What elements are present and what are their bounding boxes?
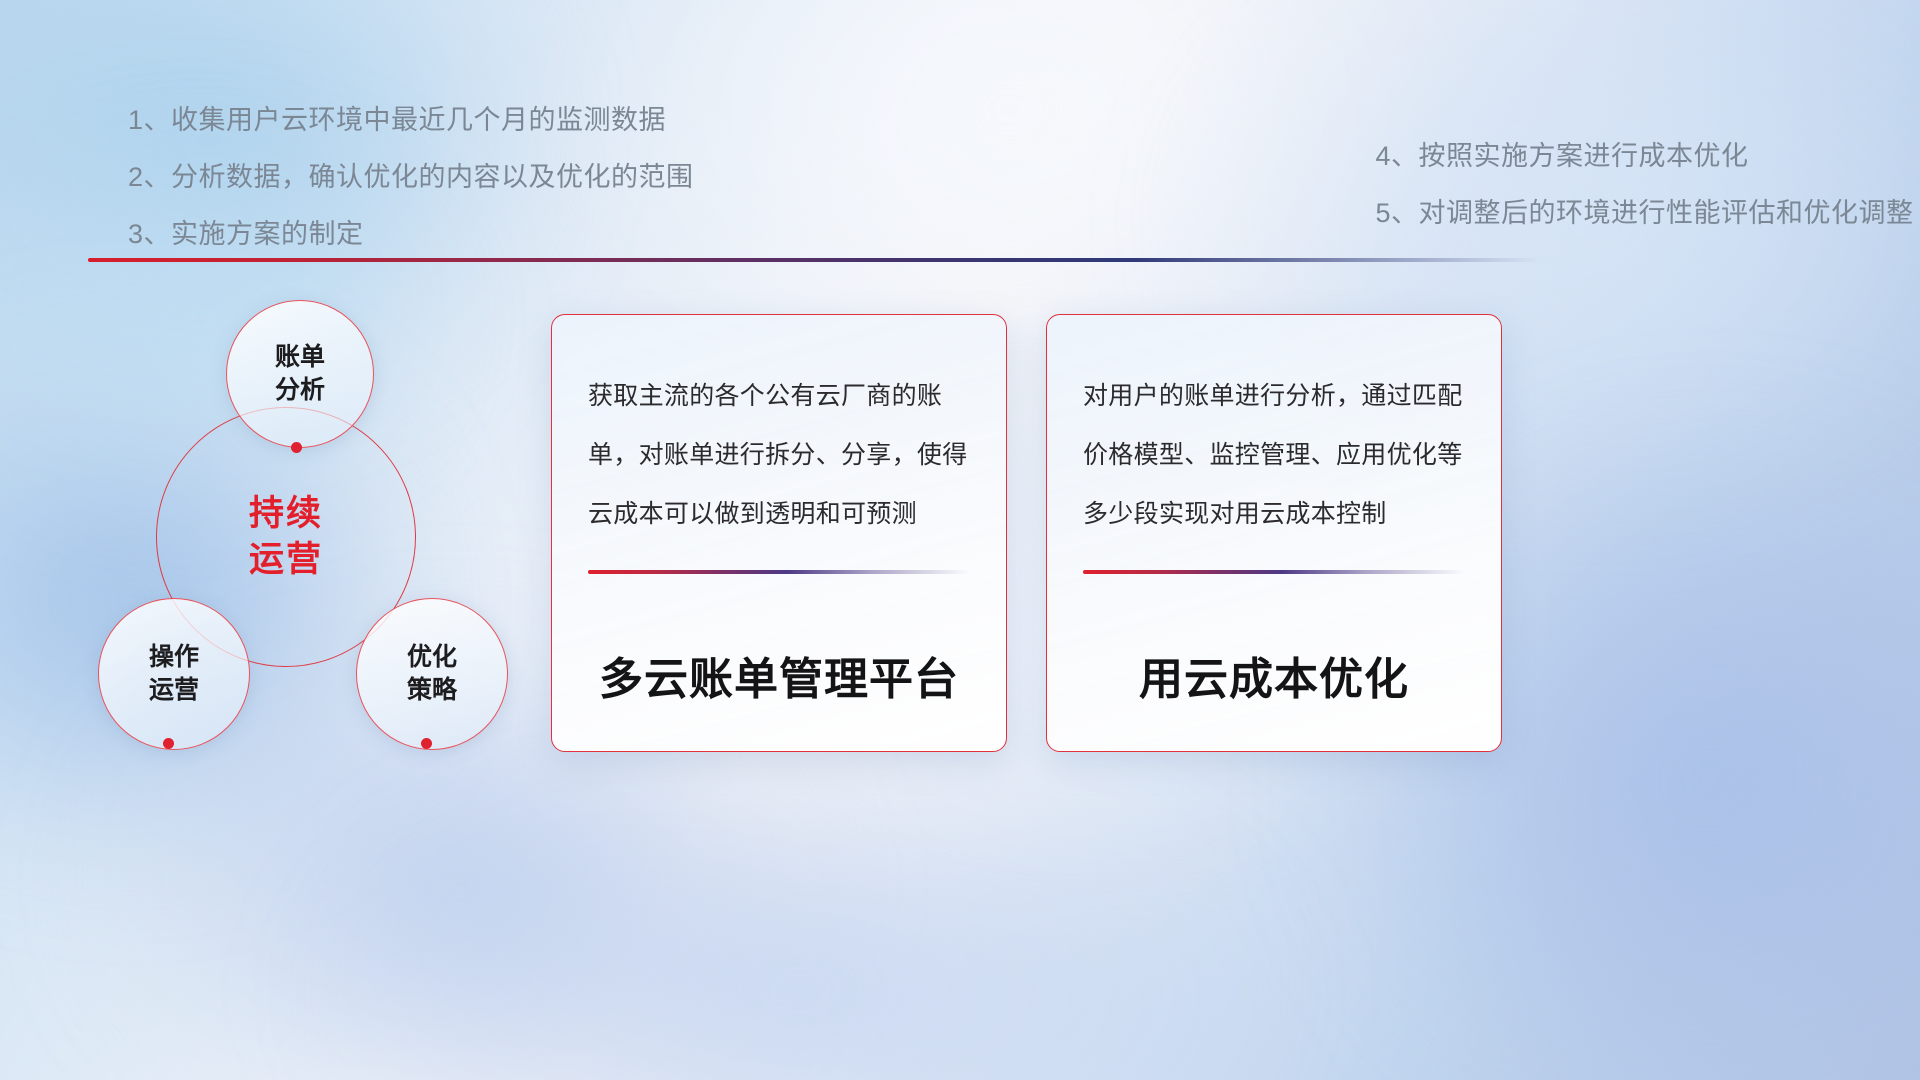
steps-section: 1、收集用户云环境中最近几个月的监测数据 2、分析数据，确认优化的内容以及优化的… — [0, 92, 1920, 263]
step-item-1: 1、收集用户云环境中最近几个月的监测数据 — [128, 92, 694, 149]
card-2-rule — [1083, 570, 1465, 574]
section-divider — [88, 258, 1540, 262]
venn-diagram: 持续 运营 账单 分析 操作 运营 优化 策略 — [78, 290, 548, 770]
step-item-2: 2、分析数据，确认优化的内容以及优化的范围 — [128, 149, 694, 206]
venn-node-dot-right — [421, 738, 432, 749]
venn-bubble-2-line-1: 操作 — [149, 641, 199, 674]
venn-bubble-2-line-2: 运营 — [149, 674, 199, 707]
venn-bubble-3-line-1: 优化 — [407, 641, 457, 674]
card-1-body: 获取主流的各个公有云厂商的账单，对账单进行拆分、分享，使得云成本可以做到透明和可… — [588, 367, 970, 544]
card-multi-cloud-billing-platform[interactable]: 获取主流的各个公有云厂商的账单，对账单进行拆分、分享，使得云成本可以做到透明和可… — [551, 314, 1007, 752]
card-cloud-cost-optimization[interactable]: 对用户的账单进行分析，通过匹配价格模型、监控管理、应用优化等多少段实现对用云成本… — [1046, 314, 1502, 752]
step-item-5: 5、对调整后的环境进行性能评估和优化调整 — [1376, 185, 1914, 242]
steps-column-left: 1、收集用户云环境中最近几个月的监测数据 2、分析数据，确认优化的内容以及优化的… — [128, 92, 694, 263]
card-2-title: 用云成本优化 — [1083, 643, 1465, 707]
venn-bubble-billing-analysis[interactable]: 账单 分析 — [226, 300, 374, 448]
venn-node-dot-top — [291, 442, 302, 453]
venn-bubble-3-line-2: 策略 — [407, 674, 457, 707]
card-2-body: 对用户的账单进行分析，通过匹配价格模型、监控管理、应用优化等多少段实现对用云成本… — [1083, 367, 1465, 544]
venn-center-line-2: 运营 — [249, 537, 323, 583]
venn-bubble-1-line-2: 分析 — [275, 374, 325, 407]
step-item-4: 4、按照实施方案进行成本优化 — [1376, 128, 1914, 185]
steps-column-right: 4、按照实施方案进行成本优化 5、对调整后的环境进行性能评估和优化调整 — [1376, 92, 1914, 263]
card-1-rule — [588, 570, 970, 574]
venn-bubble-operations[interactable]: 操作 运营 — [98, 598, 250, 750]
venn-center-line-1: 持续 — [249, 491, 323, 537]
venn-bubble-optimization-strategy[interactable]: 优化 策略 — [356, 598, 508, 750]
venn-bubble-1-line-1: 账单 — [275, 341, 325, 374]
step-item-3: 3、实施方案的制定 — [128, 206, 694, 263]
card-1-title: 多云账单管理平台 — [588, 643, 970, 707]
venn-node-dot-left — [163, 738, 174, 749]
